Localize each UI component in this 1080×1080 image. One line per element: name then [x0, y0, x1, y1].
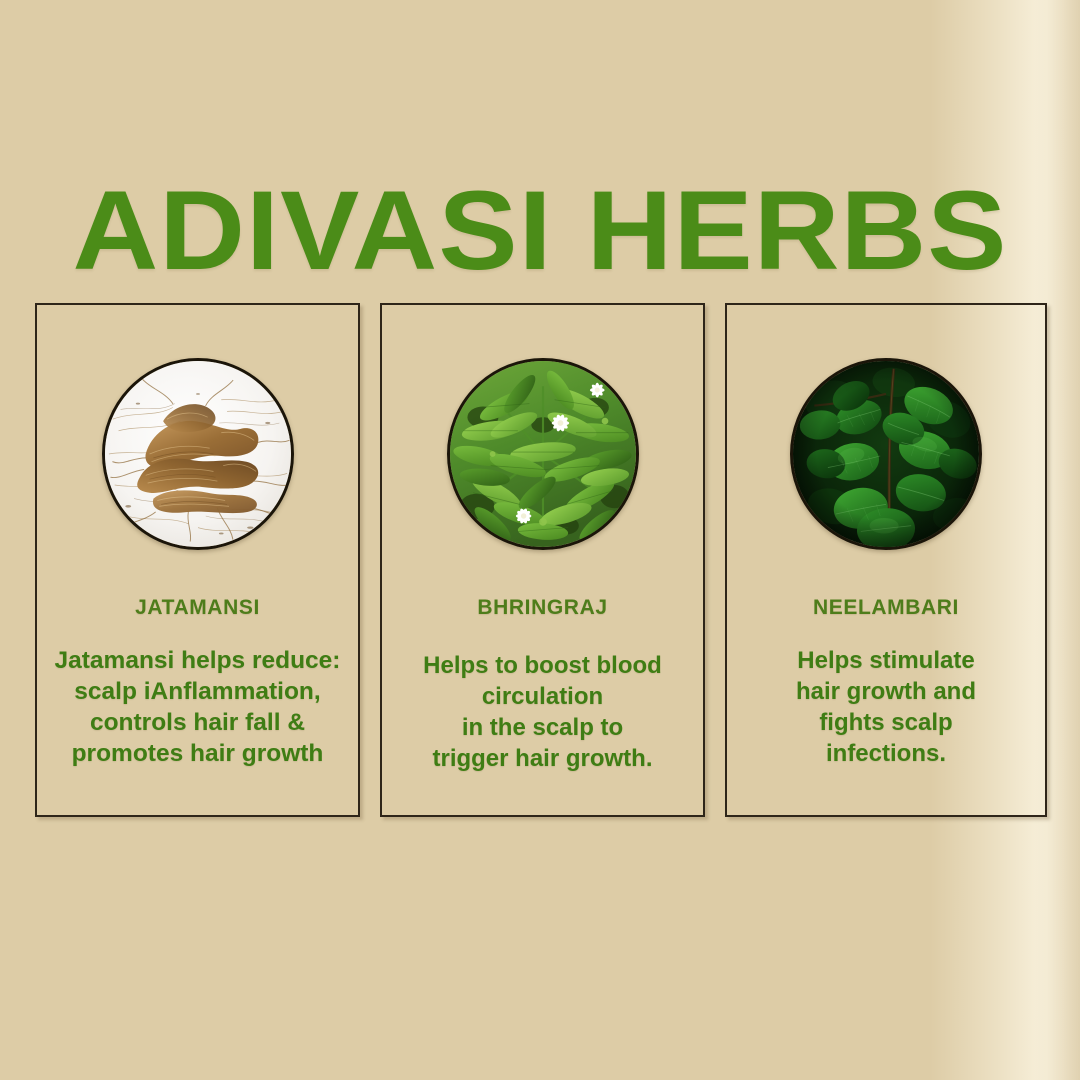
herb-description: Jatamansi helps reduce: scalp iAnflammat… — [45, 645, 350, 769]
thumb-wrap — [382, 358, 703, 550]
herb-name: BHRINGRAJ — [382, 596, 703, 620]
page-title: ADIVASI HERBS — [0, 175, 1080, 287]
jatamansi-roots-photo — [102, 358, 294, 550]
herb-description: Helps to boost blood circulation in the … — [390, 650, 695, 774]
herb-card-neelambari[interactable]: NEELAMBARI Helps stimulate hair growth a… — [725, 303, 1047, 817]
neelambari-leaves-photo — [790, 358, 982, 550]
herb-card-row: JATAMANSI Jatamansi helps reduce: scalp … — [35, 303, 1047, 817]
herb-name: JATAMANSI — [37, 596, 358, 620]
bhringraj-plant-photo — [447, 358, 639, 550]
herb-card-jatamansi[interactable]: JATAMANSI Jatamansi helps reduce: scalp … — [35, 303, 360, 817]
thumb-wrap — [727, 358, 1045, 550]
adivasi-herbs-poster: ADIVASI HERBS — [0, 0, 1080, 1080]
thumb-wrap — [37, 358, 358, 550]
herb-name: NEELAMBARI — [727, 596, 1045, 620]
herb-description: Helps stimulate hair growth and fights s… — [735, 645, 1037, 769]
herb-card-bhringraj[interactable]: BHRINGRAJ Helps to boost blood circulati… — [380, 303, 705, 817]
